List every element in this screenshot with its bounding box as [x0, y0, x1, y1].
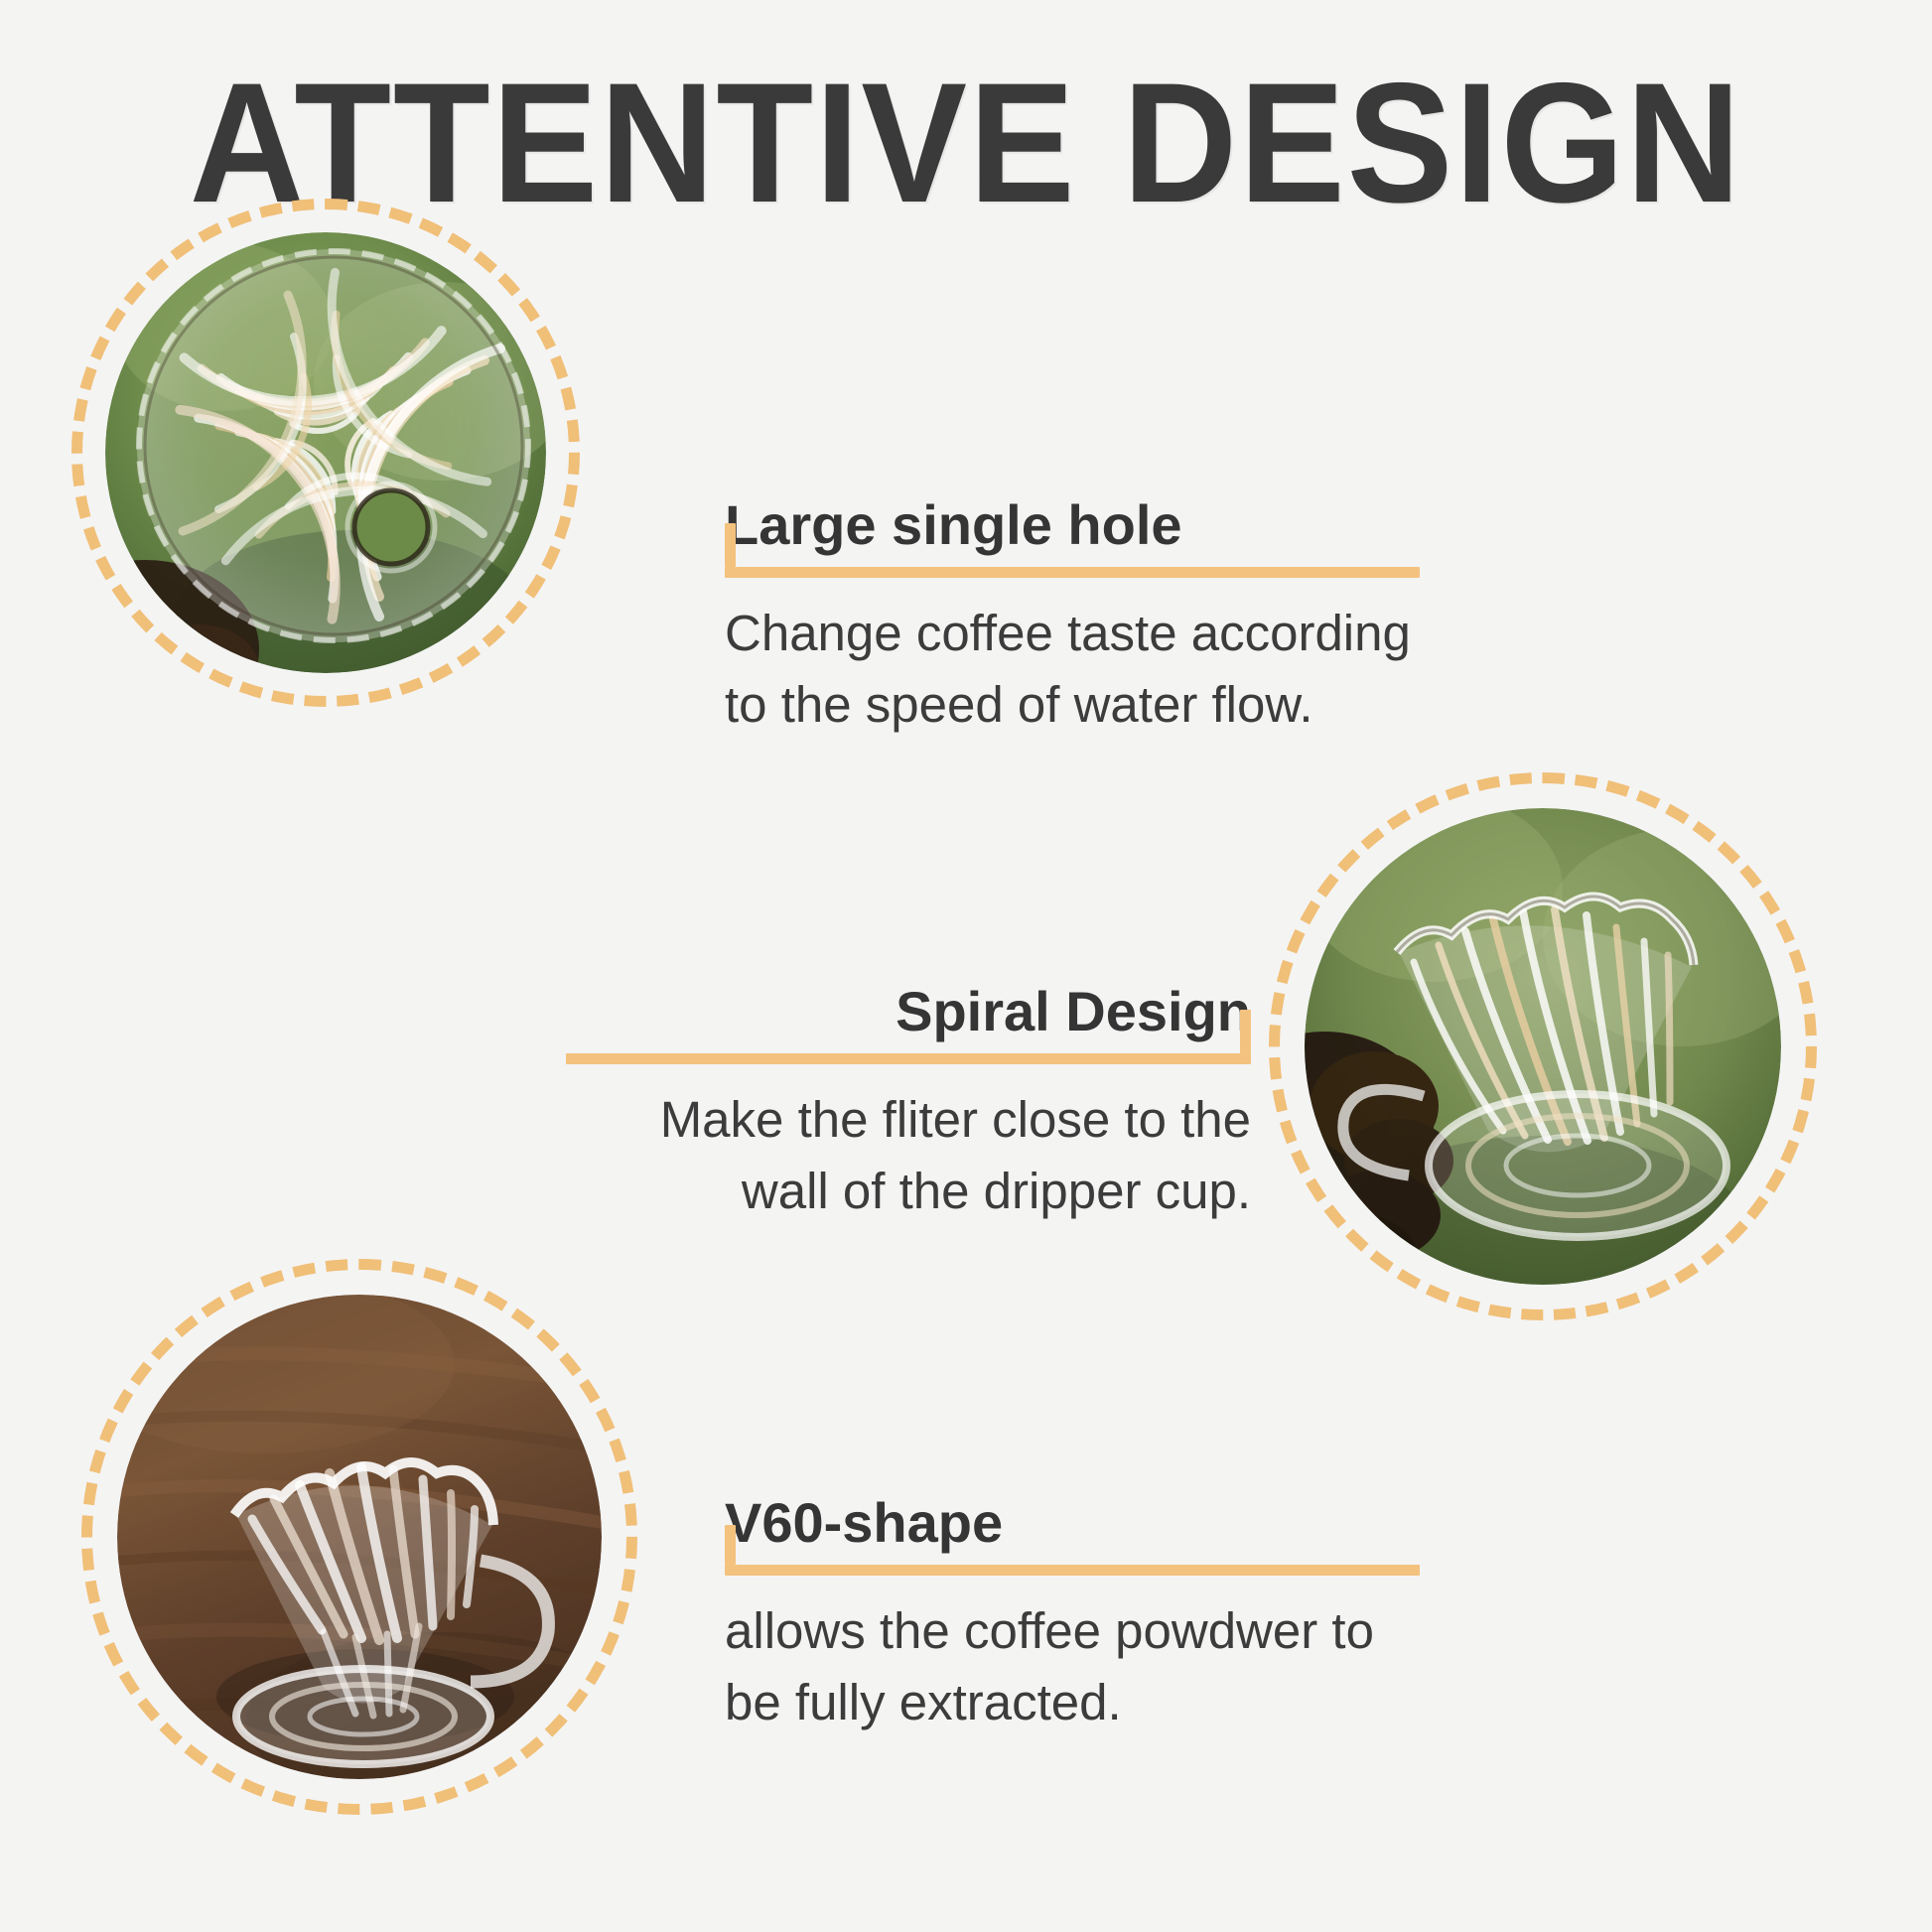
- feature-rule-1: [725, 567, 1420, 578]
- feature-body-2: Make the fliter close to the wall of the…: [566, 1084, 1251, 1228]
- dripper-side-view-photo: [1305, 808, 1781, 1285]
- feature-photo-circle-2: [1269, 772, 1817, 1320]
- feature-heading-1: Large single hole: [725, 496, 1420, 555]
- feature-rule-3: [725, 1565, 1420, 1576]
- feature-block-3: V60-shape allows the coffee powdwer to b…: [725, 1494, 1420, 1739]
- rule-tick-left-3: [725, 1525, 736, 1565]
- feature-rule-2: [566, 1053, 1251, 1064]
- feature-body-3: allows the coffee powdwer to be fully ex…: [725, 1595, 1420, 1739]
- feature-photo-circle-1: [71, 199, 580, 707]
- dripper-top-view-photo: [105, 232, 546, 673]
- rule-tick-left-1: [725, 523, 736, 567]
- feature-block-1: Large single hole Change coffee taste ac…: [725, 496, 1420, 742]
- feature-heading-2: Spiral Design: [566, 983, 1251, 1041]
- rule-tick-right-2: [1240, 1010, 1251, 1053]
- feature-heading-3: V60-shape: [725, 1494, 1420, 1553]
- feature-body-1: Change coffee taste according to the spe…: [725, 598, 1420, 742]
- dripper-on-table-photo: [117, 1295, 602, 1779]
- feature-block-2: Spiral Design Make the fliter close to t…: [566, 983, 1251, 1228]
- feature-photo-circle-3: [81, 1259, 637, 1815]
